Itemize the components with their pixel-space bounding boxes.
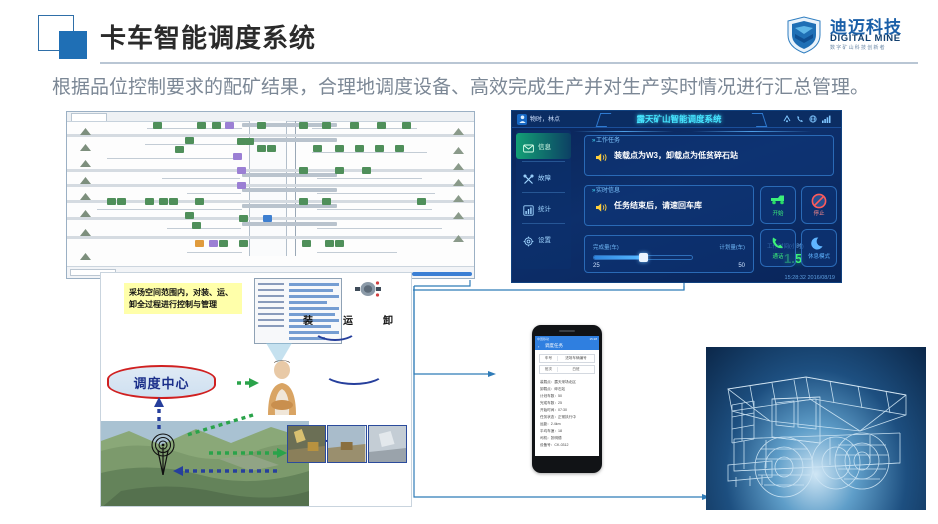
gantt-truck-icon-alt[interactable] — [233, 153, 242, 160]
sidebar-label-settings: 设置 — [538, 234, 551, 244]
stop-button[interactable]: 停止 — [801, 186, 837, 224]
phone-list-item: 开始时间：07:30 — [540, 408, 567, 413]
decor-square-filled — [59, 31, 87, 59]
progress-fill — [594, 256, 643, 259]
chart-icon — [523, 203, 534, 214]
operation-label-dump: 卸 — [383, 312, 393, 327]
gantt-row-sep — [67, 169, 474, 172]
gantt-truck-icon-warn[interactable] — [195, 240, 204, 247]
stop-button-label: 停止 — [813, 209, 824, 217]
gantt-scrollbar[interactable] — [412, 272, 472, 276]
gantt-truck-icon[interactable] — [299, 122, 308, 129]
double-arrow-icon: » — [592, 188, 594, 194]
user-icon — [517, 114, 527, 125]
envelope-icon — [523, 141, 534, 152]
gantt-truck-icon[interactable] — [239, 240, 248, 247]
gantt-header-chip — [242, 222, 290, 226]
phone-screen[interactable]: 中国移动 15:28 ‹ 调度任务 车号 进场车辆编号 班次 白班 装载点：露天… — [535, 336, 599, 456]
gantt-dump-icon — [452, 123, 465, 132]
phone-list-item: 装载点：露天采场北区 — [540, 380, 576, 385]
gantt-shovel-icon — [79, 123, 92, 132]
gantt-truck-icon[interactable] — [355, 145, 364, 152]
sidebar-divider — [522, 223, 565, 224]
gantt-dump-icon — [452, 190, 465, 199]
progress-knob[interactable] — [639, 253, 648, 262]
gantt-dump-icon — [452, 142, 465, 151]
dispatch-dashboard[interactable]: 物时，林点 露天矿山智能调度系统 — [511, 110, 842, 283]
truck-wireframe-icon — [710, 353, 922, 503]
dashboard-title: 露天矿山智能调度系统 — [636, 113, 721, 125]
gantt-shovel-icon — [79, 205, 92, 214]
gantt-truck-icon-alt[interactable] — [225, 122, 234, 129]
title-wing-right — [752, 113, 768, 127]
start-button[interactable]: 开始 — [760, 186, 796, 224]
concept-diagram-panel: 采场空间范围内，对装、运、卸全过程进行控制与管理 — [100, 272, 412, 507]
phone-field-label: 班次 — [540, 367, 557, 372]
gantt-header-chip — [285, 138, 337, 142]
phone-speaker — [559, 330, 575, 332]
truck-icon — [770, 193, 787, 208]
gantt-truck-icon[interactable] — [335, 167, 344, 174]
page-title: 卡车智能调度系统 — [100, 18, 316, 55]
logo-name-en: DIGITAL MINE — [830, 33, 901, 44]
gantt-row-sep — [67, 184, 474, 187]
gantt-dump-icon — [452, 230, 465, 239]
start-button-label: 开始 — [772, 209, 783, 217]
realtime-info-text: 任务结束后，请速回车库 — [614, 200, 702, 211]
gantt-link — [317, 228, 442, 229]
phone-device: 中国移动 15:28 ‹ 调度任务 车号 进场车辆编号 班次 白班 装载点：露天… — [532, 325, 602, 473]
work-task-text: 装载点为W3，卸载点为低贫碎石站 — [614, 150, 738, 161]
phone-list-item: 运距：2.4km — [540, 422, 561, 427]
gantt-link — [317, 209, 432, 210]
gantt-truck-icon[interactable] — [299, 167, 308, 174]
globe-icon — [809, 115, 817, 125]
gantt-truck-icon[interactable] — [395, 145, 404, 152]
gantt-truck-icon[interactable] — [159, 198, 168, 205]
gantt-link — [317, 193, 435, 194]
phone-icon — [796, 115, 804, 125]
sidebar-divider — [522, 161, 565, 162]
gantt-header-chip — [242, 204, 290, 208]
progress-panel[interactable]: 完成量(车) 计划量(车) 25 50 — [584, 235, 754, 273]
sidebar-item-fault[interactable]: 故障 — [516, 164, 571, 190]
gantt-truck-icon-alt[interactable] — [209, 240, 218, 247]
gantt-truck-icon[interactable] — [377, 122, 386, 129]
gantt-truck-icon[interactable] — [107, 198, 116, 205]
call-button[interactable]: 通话 — [760, 229, 796, 267]
gantt-header-chip — [242, 173, 290, 177]
gantt-truck-icon[interactable] — [219, 240, 228, 247]
dashboard-user-label: 物时，林点 — [530, 114, 560, 123]
rest-mode-button-label: 休息模式 — [808, 252, 830, 260]
phone-list-item: 设备号：CK-0312 — [540, 443, 569, 448]
work-task-card[interactable]: » 工作任务 装载点为W3，卸载点为低贫碎石站 — [584, 135, 834, 176]
company-logo: 迪迈科技 DIGITAL MINE 数字矿山科技创新者 — [784, 13, 924, 57]
phone-icon — [770, 236, 787, 251]
phone-nav-title: 调度任务 — [545, 343, 563, 349]
gantt-truck-icon[interactable] — [335, 240, 344, 247]
gantt-link — [187, 252, 242, 253]
done-value: 25 — [593, 263, 600, 269]
gantt-truck-icon[interactable] — [197, 122, 206, 129]
sidebar-label-fault: 故障 — [538, 172, 551, 182]
gantt-link — [97, 209, 242, 210]
realtime-info-card[interactable]: » 实时信息 任务结束后，请速回车库 — [584, 185, 754, 226]
moon-icon — [811, 236, 828, 251]
logo-mark-icon — [784, 15, 824, 55]
operation-tiles — [287, 425, 407, 463]
phone-field-row[interactable]: 班次 白班 — [539, 365, 595, 374]
gantt-link — [162, 178, 240, 179]
slide-root: 卡车智能调度系统 迪迈科技 DIGITAL MINE 数字矿山科技创新者 根据品… — [0, 0, 938, 524]
operation-label-haul: 运 — [343, 312, 353, 327]
realtime-info-body: 任务结束后，请速回车库 — [595, 200, 747, 211]
realtime-info-tag-label: 实时信息 — [596, 188, 620, 194]
truck-wireframe-panel — [706, 347, 926, 510]
progress-slider[interactable] — [593, 255, 693, 260]
page-header: 卡车智能调度系统 迪迈科技 DIGITAL MINE 数字矿山科技创新者 — [0, 0, 938, 66]
sidebar-label-stats: 统计 — [538, 203, 551, 213]
gantt-truck-icon[interactable] — [267, 145, 276, 152]
gantt-shovel-icon — [79, 188, 92, 197]
concept-flow-arrows — [101, 273, 412, 507]
dashboard-title-wrap: 露天矿山智能调度系统 — [604, 112, 754, 126]
gantt-truck-icon[interactable] — [350, 122, 359, 129]
gantt-truck-icon[interactable] — [212, 122, 221, 129]
gantt-header-chip — [285, 222, 337, 226]
gantt-truck-icon[interactable] — [145, 198, 154, 205]
work-task-tag: » 工作任务 — [592, 135, 620, 144]
gantt-truck-icon[interactable] — [302, 240, 311, 247]
sidebar-item-message[interactable]: 信息 — [516, 133, 571, 159]
gantt-truck-icon[interactable] — [239, 215, 248, 222]
dispatch-gantt-panel[interactable] — [66, 111, 475, 279]
rest-mode-button[interactable]: 休息模式 — [801, 229, 837, 267]
gantt-header-chip — [242, 188, 290, 192]
work-task-tag-label: 工作任务 — [596, 138, 620, 144]
gantt-truck-icon[interactable] — [313, 145, 322, 152]
gantt-truck-icon[interactable] — [185, 212, 194, 219]
gantt-truck-icon[interactable] — [375, 145, 384, 152]
gantt-dump-icon — [452, 207, 465, 216]
deco-line — [692, 131, 812, 132]
header-divider — [100, 62, 918, 64]
operation-label-load: 装 — [303, 312, 313, 327]
gantt-link — [187, 193, 241, 194]
gantt-row-sep — [67, 200, 474, 203]
gantt-dump-icon — [452, 158, 465, 167]
phone-list-item: 卸载点：碎石站 — [540, 387, 565, 392]
chevron-left-icon[interactable]: ‹ — [538, 344, 539, 349]
mobile-app-panel: 中国移动 15:28 ‹ 调度任务 车号 进场车辆编号 班次 白班 装载点：露天… — [496, 321, 648, 477]
gantt-truck-icon[interactable] — [192, 222, 201, 229]
phone-field-value: 进场车辆编号 — [557, 356, 594, 361]
gantt-link — [312, 152, 427, 153]
gantt-shovel-icon — [79, 224, 92, 233]
operation-tile-haul — [327, 425, 366, 463]
gantt-link — [317, 252, 397, 253]
phone-field-label: 车号 — [540, 356, 557, 361]
phone-field-value: 白班 — [557, 367, 594, 372]
deco-line — [574, 131, 674, 132]
sidebar-divider — [522, 192, 565, 193]
gantt-truck-icon[interactable] — [299, 198, 308, 205]
gear-icon — [523, 234, 534, 245]
operation-tile-load — [287, 425, 326, 463]
gantt-truck-icon-active[interactable] — [263, 215, 272, 222]
sidebar-item-stats[interactable]: 统计 — [516, 195, 571, 221]
gantt-tab[interactable] — [71, 113, 107, 121]
dashboard-sidebar: 信息 故障 统计 设置 — [516, 130, 571, 269]
gantt-link — [317, 178, 422, 179]
double-arrow-icon: » — [592, 138, 594, 144]
phone-list-item: 平均车速：18 — [540, 429, 562, 434]
gantt-dump-icon — [452, 174, 465, 183]
gantt-shovel-icon — [79, 248, 92, 257]
speaker-icon — [595, 200, 608, 211]
gantt-truck-icon[interactable] — [325, 240, 334, 247]
logo-tagline: 数字矿山科技创新者 — [830, 44, 886, 51]
gantt-truck-icon[interactable] — [117, 198, 126, 205]
page-subtitle: 根据品位控制要求的配矿结果，合理地调度设备、高效完成生产并对生产实时情况进行汇总… — [52, 72, 932, 99]
phone-list-item: 任务状态：正常执行中 — [540, 415, 576, 420]
realtime-info-tag: » 实时信息 — [592, 185, 620, 194]
gantt-truck-icon[interactable] — [169, 198, 178, 205]
gantt-header-chip — [285, 188, 337, 192]
wrench-icon — [523, 172, 534, 183]
gantt-shovel-icon — [79, 139, 92, 148]
gantt-header-chip — [285, 173, 337, 177]
operation-tile-dump — [368, 425, 407, 463]
forbidden-icon — [811, 193, 828, 208]
gantt-row-sep — [67, 134, 474, 137]
gantt-truck-icon[interactable] — [417, 198, 426, 205]
gantt-truck-icon[interactable] — [257, 122, 266, 129]
phone-list-item: 司机：张明德 — [540, 436, 562, 441]
phone-list-item: 完成车数：25 — [540, 401, 562, 406]
gantt-link — [107, 158, 237, 159]
gantt-truck-icon[interactable] — [322, 198, 331, 205]
gantt-truck-icon[interactable] — [402, 122, 411, 129]
phone-list-item: 计划车数：50 — [540, 394, 562, 399]
gantt-shovel-icon — [79, 172, 92, 181]
gantt-truck-icon[interactable] — [195, 198, 204, 205]
sidebar-label-message: 信息 — [538, 141, 551, 151]
gantt-truck-icon[interactable] — [335, 145, 344, 152]
plan-label: 计划量(车) — [719, 243, 745, 251]
bars-icon — [822, 115, 831, 125]
sidebar-item-settings[interactable]: 设置 — [516, 226, 571, 252]
gantt-link — [167, 228, 241, 229]
call-button-label: 通话 — [772, 252, 783, 260]
gantt-truck-icon[interactable] — [153, 122, 162, 129]
gantt-truck-icon[interactable] — [362, 167, 371, 174]
gantt-truck-icon[interactable] — [185, 137, 194, 144]
gantt-truck-icon-alt[interactable] — [237, 167, 246, 174]
gantt-header-chip — [242, 123, 290, 127]
signal-icon — [783, 115, 791, 125]
dashboard-timestamp: 15:28:32 2016/08/19 — [785, 275, 835, 281]
gantt-truck-icon[interactable] — [175, 146, 184, 153]
gantt-truck-icon-alt[interactable] — [237, 182, 246, 189]
gantt-truck-icon[interactable] — [257, 145, 266, 152]
gantt-shovel-icon — [79, 155, 92, 164]
phone-field-row[interactable]: 车号 进场车辆编号 — [539, 354, 595, 363]
dashboard-topbar: 物时，林点 露天矿山智能调度系统 — [512, 111, 841, 128]
gantt-truck-icon[interactable] — [245, 138, 254, 145]
gantt-truck-icon[interactable] — [322, 122, 331, 129]
arrow-right-phone — [488, 371, 496, 377]
plan-value: 50 — [738, 263, 745, 269]
flow-operator-to-antenna — [187, 415, 253, 435]
speaker-icon — [595, 150, 608, 161]
gantt-link — [145, 144, 237, 145]
done-label: 完成量(车) — [593, 243, 619, 251]
gantt-row-sep — [67, 236, 474, 239]
work-task-body: 装载点为W3，卸载点为低贫碎石站 — [595, 150, 827, 161]
